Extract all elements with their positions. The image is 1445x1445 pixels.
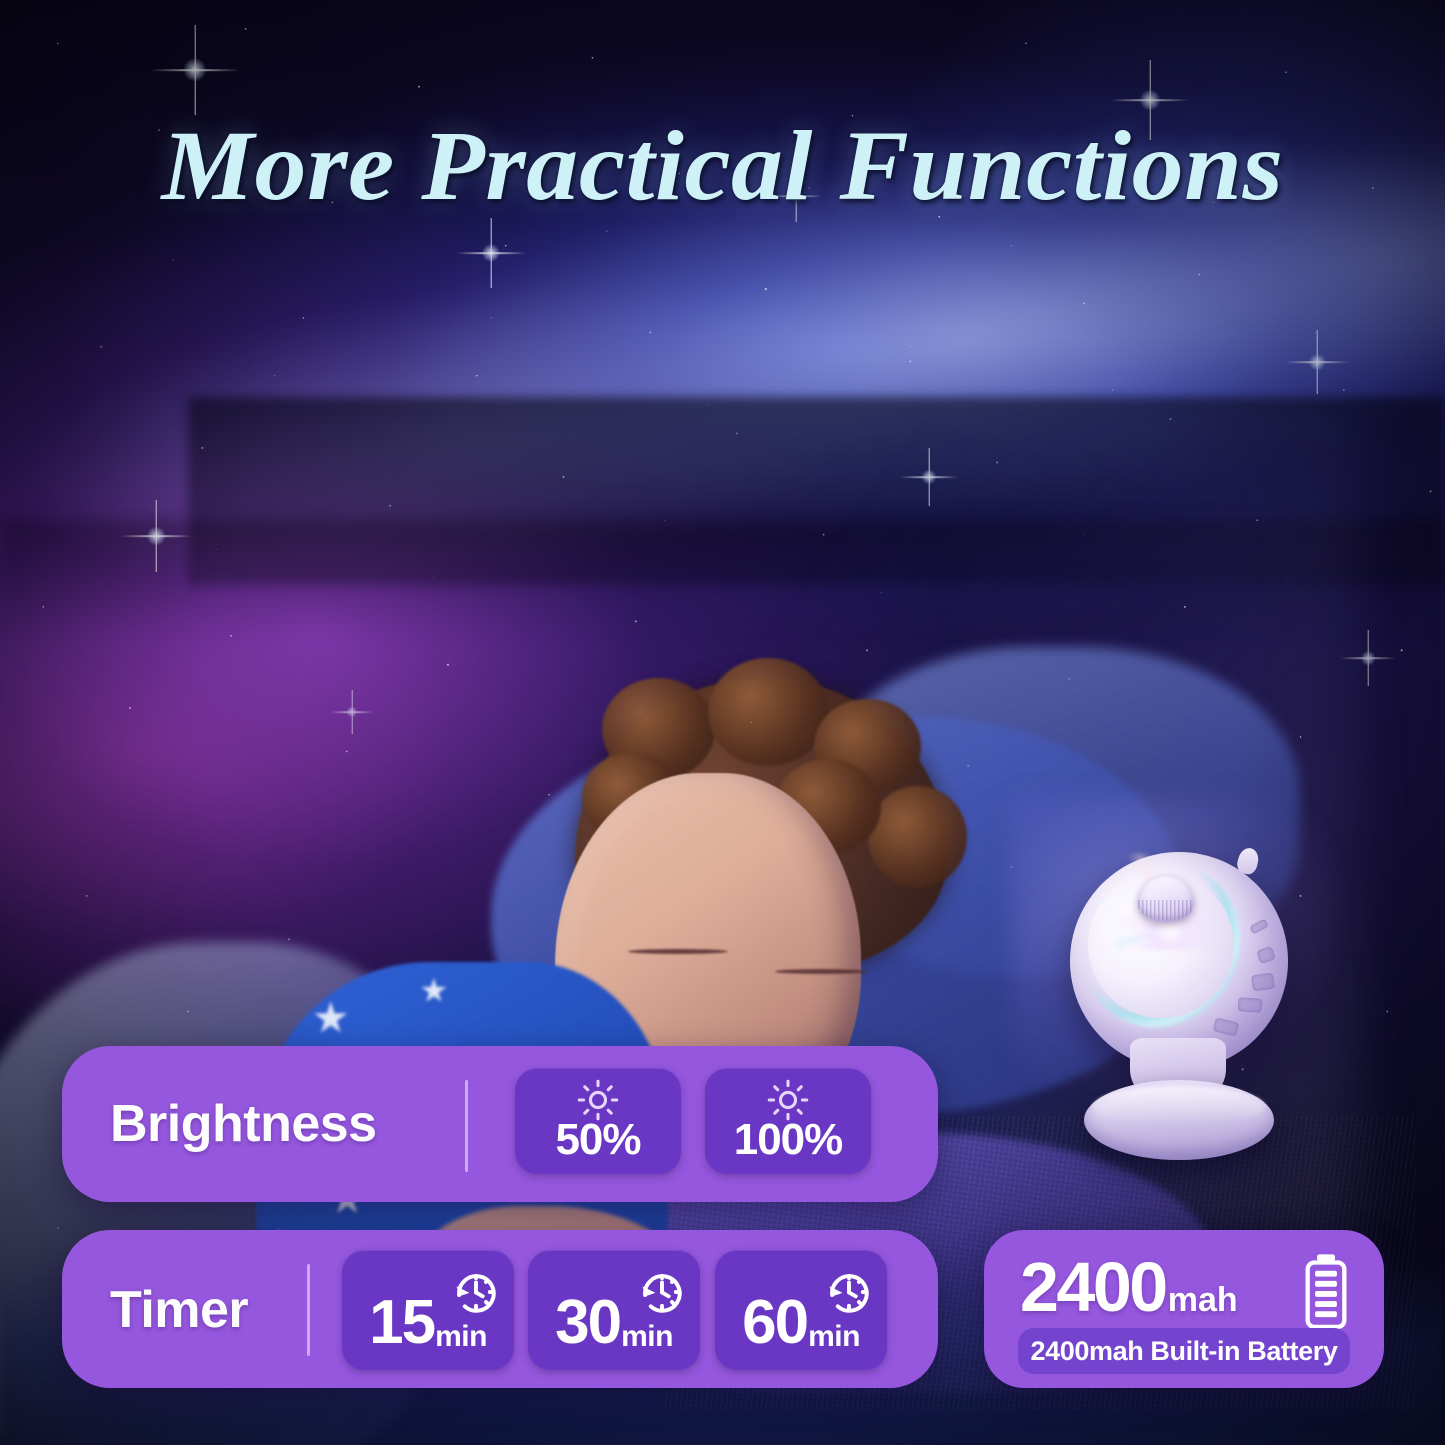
timer-number: 60 [742,1292,807,1354]
timer-panel: Timer 15 min [62,1230,938,1388]
battery-capacity: 2400 mah [1020,1252,1238,1322]
timer-option-60[interactable]: 60 min [715,1250,887,1370]
timer-unit: min [435,1322,487,1354]
battery-caption-pill: 2400mah Built-in Battery [1018,1328,1350,1374]
device-button[interactable] [1251,973,1275,992]
brightness-option-100[interactable]: 100% [705,1068,871,1174]
timer-option-30[interactable]: 30 min [528,1250,700,1370]
brightness-option-50[interactable]: 50% [515,1068,681,1174]
brightness-value: 50% [515,1115,681,1165]
battery-capacity-unit: mah [1168,1283,1238,1317]
timer-label: Timer [110,1280,248,1340]
battery-icon [1298,1252,1354,1335]
product-feature-image: More Practical Functions Brightness [0,0,1445,1445]
timer-unit: min [808,1322,860,1354]
device-base-highlight [1092,1086,1266,1126]
timer-divider [307,1264,310,1356]
timer-option-15[interactable]: 15 min [342,1250,514,1370]
device-button[interactable] [1238,997,1263,1013]
battery-capacity-number: 2400 [1020,1252,1166,1322]
timer-number: 30 [555,1292,620,1354]
device-focus-knob [1138,876,1194,922]
battery-panel: 2400 mah 2400mah Built-in Battery [984,1230,1384,1388]
brightness-value: 100% [705,1115,871,1165]
brightness-panel: Brightness 50% [62,1046,938,1202]
brightness-divider [465,1080,468,1172]
timer-unit: min [621,1322,673,1354]
timer-number: 15 [369,1292,434,1354]
star-projector-device [1062,842,1312,1172]
page-title: More Practical Functions [0,108,1445,223]
battery-caption: 2400mah Built-in Battery [1031,1336,1338,1367]
brightness-label: Brightness [110,1094,377,1154]
